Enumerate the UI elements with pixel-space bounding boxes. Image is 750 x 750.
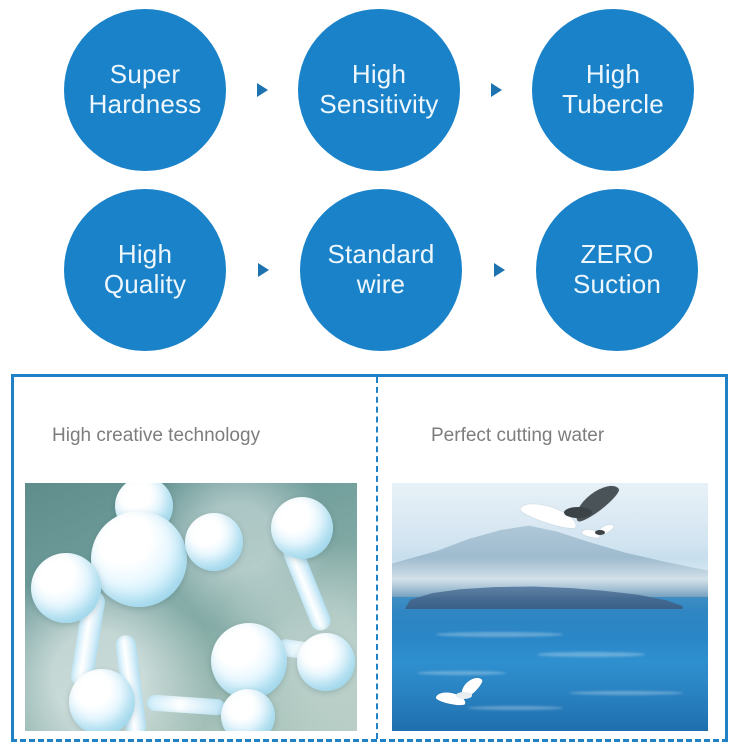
- showcase-panel-right: Perfect cutting water: [378, 377, 725, 739]
- feature-circle-high-tubercle[interactable]: High Tubercle: [532, 9, 694, 171]
- showcase-panel: High creative technology: [11, 374, 728, 742]
- feature-circle-high-sensitivity[interactable]: High Sensitivity: [298, 9, 460, 171]
- arrow-right-icon: [248, 255, 278, 285]
- feature-circle-standard-wire[interactable]: Standard wire: [300, 189, 462, 351]
- showcase-panel-left: High creative technology: [14, 377, 378, 739]
- showcase-image-right: [392, 483, 708, 731]
- seagull-icon: [582, 525, 616, 541]
- showcase-title-right: Perfect cutting water: [378, 377, 725, 469]
- seascape-with-seagulls-photo: [392, 483, 708, 731]
- water-molecule-illustration: [25, 483, 357, 731]
- feature-circle-label: High Tubercle: [558, 60, 668, 119]
- feature-circle-super-hardness[interactable]: Super Hardness: [64, 9, 226, 171]
- feature-circle-label: High Sensitivity: [315, 60, 442, 119]
- seagull-icon: [436, 681, 490, 707]
- feature-circle-label: High Quality: [100, 240, 190, 299]
- feature-circle-label: Standard wire: [323, 240, 438, 299]
- showcase-image-left: [25, 483, 357, 731]
- feature-circle-zero-suction[interactable]: ZERO Suction: [536, 189, 698, 351]
- showcase-title-left: High creative technology: [14, 377, 376, 469]
- feature-row-1: Super Hardness High Sensitivity High Tub…: [0, 0, 750, 180]
- arrow-right-icon: [247, 75, 277, 105]
- arrow-right-icon: [484, 255, 514, 285]
- feature-circle-high-quality[interactable]: High Quality: [64, 189, 226, 351]
- feature-circle-label: ZERO Suction: [569, 240, 665, 299]
- feature-diagram: Super Hardness High Sensitivity High Tub…: [0, 0, 750, 360]
- feature-row-2: High Quality Standard wire ZERO Suction: [0, 180, 750, 360]
- arrow-right-icon: [481, 75, 511, 105]
- feature-circle-label: Super Hardness: [85, 60, 206, 119]
